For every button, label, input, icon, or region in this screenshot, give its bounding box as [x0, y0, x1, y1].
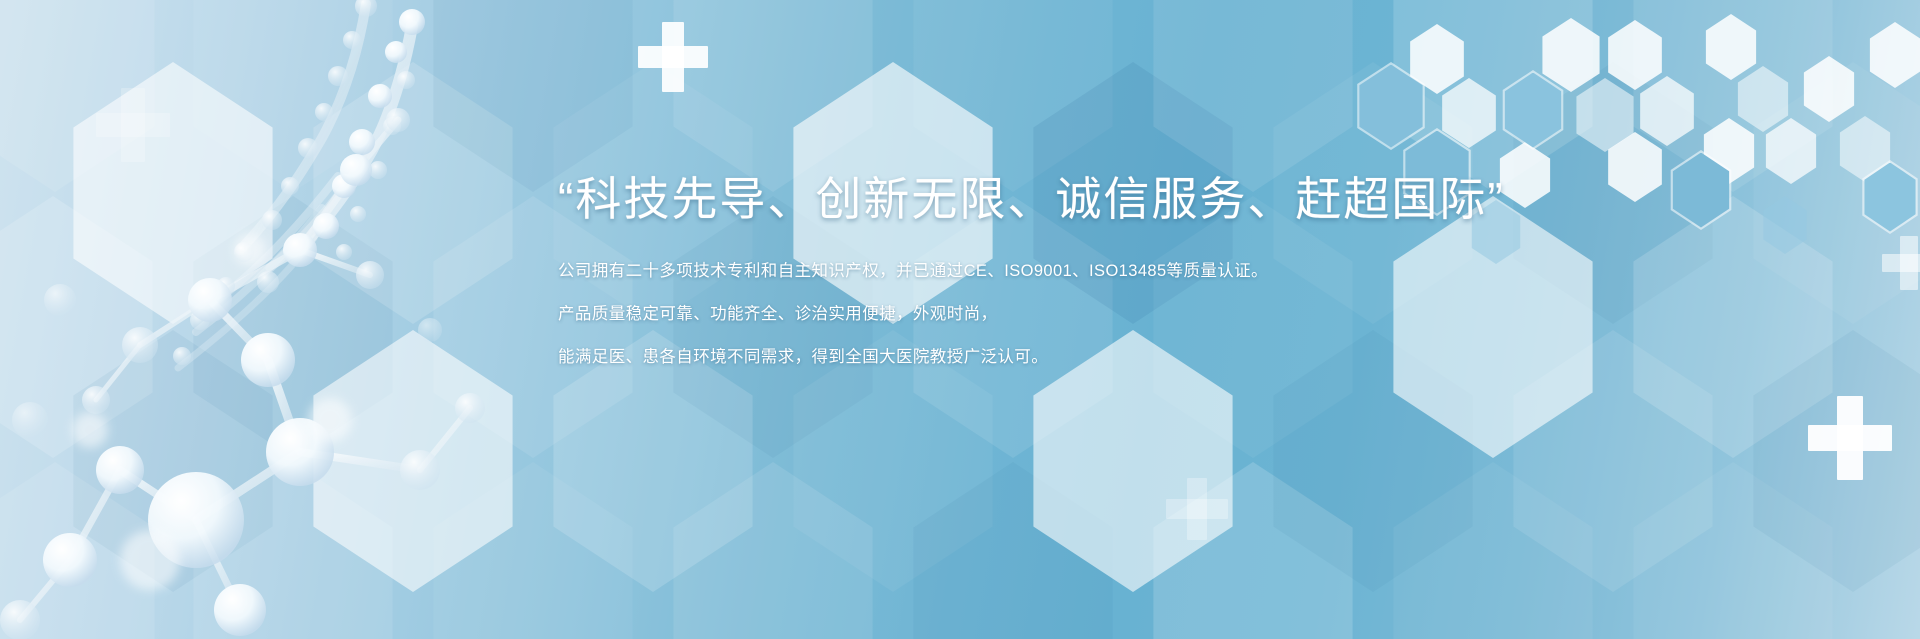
subtitle-line: 产品质量稳定可靠、功能齐全、诊治实用便捷，外观时尚， — [558, 299, 1688, 330]
banner-copy: “科技先导、创新无限、诚信服务、赶超国际” 公司拥有二十多项技术专利和自主知识产… — [558, 176, 1688, 373]
hero-banner: “科技先导、创新无限、诚信服务、赶超国际” 公司拥有二十多项技术专利和自主知识产… — [0, 0, 1920, 639]
subtitle-line: 公司拥有二十多项技术专利和自主知识产权，并已通过CE、ISO9001、ISO13… — [558, 256, 1688, 287]
medical-cross-icon — [96, 88, 170, 162]
banner-subtitle: 公司拥有二十多项技术专利和自主知识产权，并已通过CE、ISO9001、ISO13… — [558, 256, 1688, 373]
medical-cross-icon — [1808, 396, 1892, 480]
medical-cross-icon — [1882, 236, 1920, 290]
dna-molecule-graphic — [0, 0, 620, 639]
medical-cross-icon — [638, 22, 708, 92]
medical-cross-icon — [1166, 478, 1228, 540]
subtitle-line: 能满足医、患各自环境不同需求，得到全国大医院教授广泛认可。 — [558, 342, 1688, 373]
page-title: “科技先导、创新无限、诚信服务、赶超国际” — [558, 176, 1688, 222]
